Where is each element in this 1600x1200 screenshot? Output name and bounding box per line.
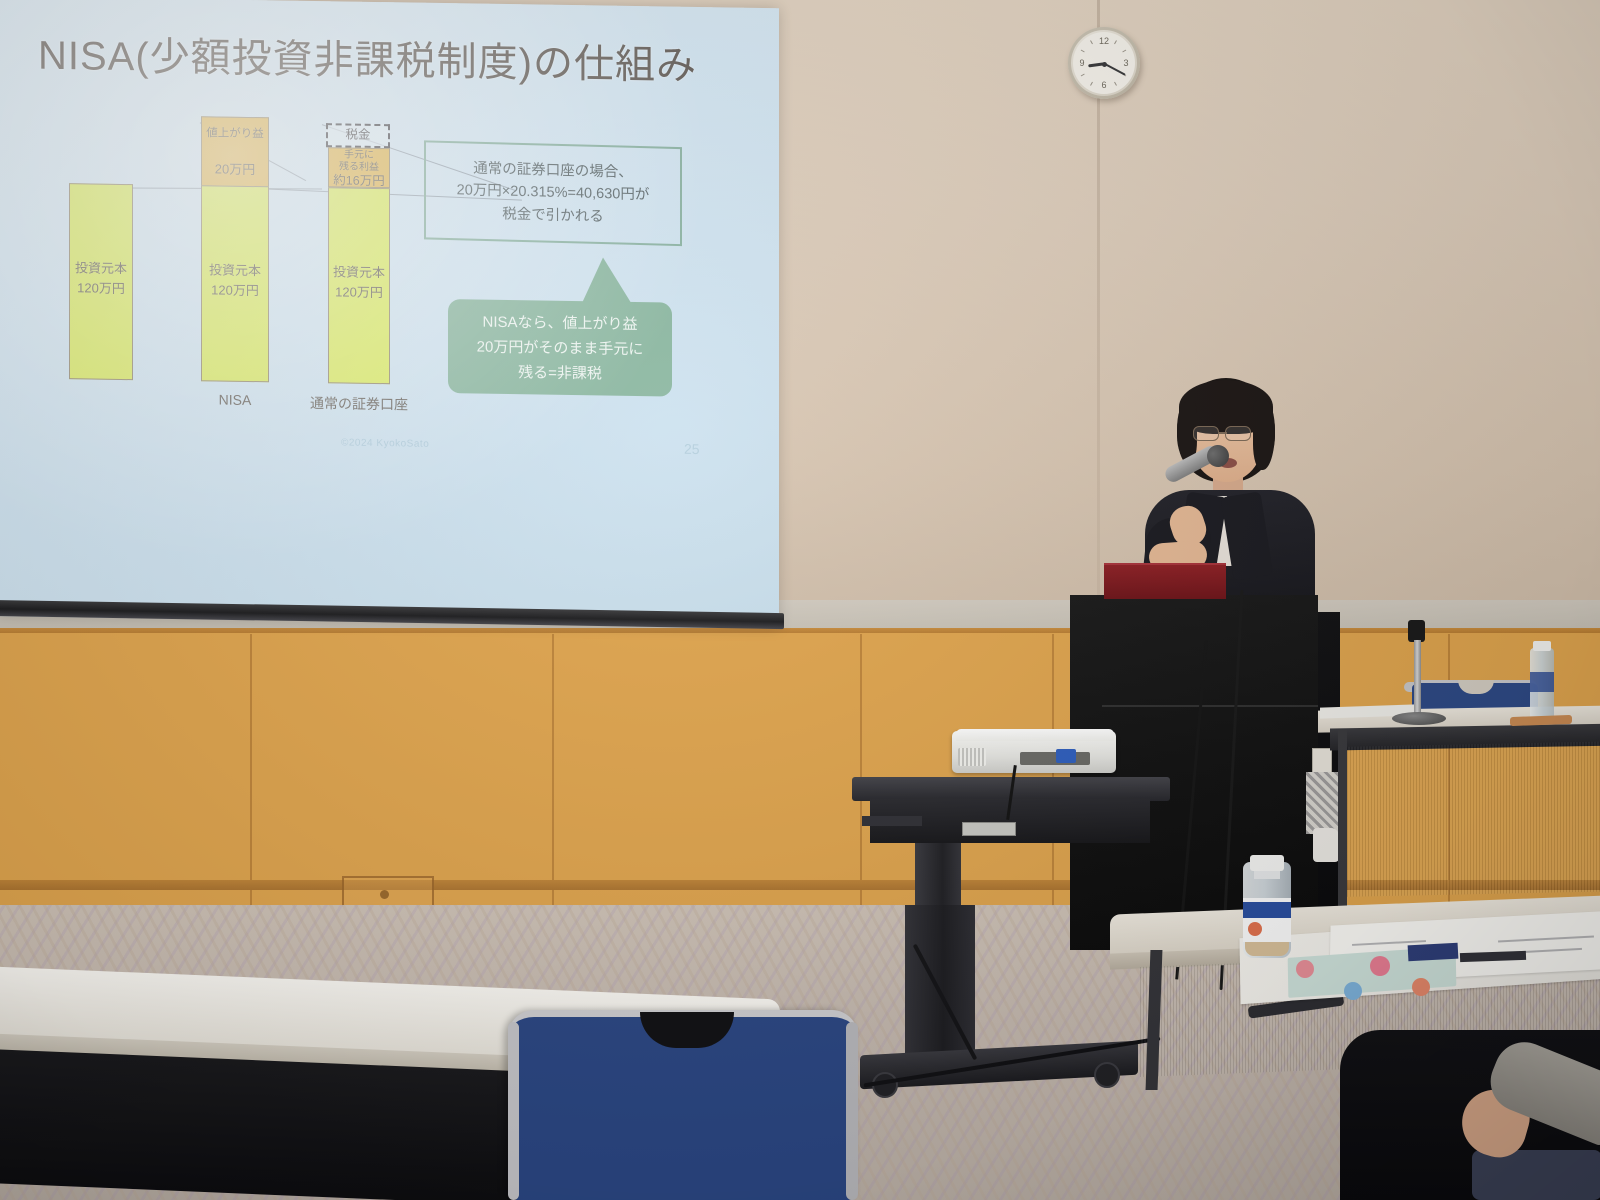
bar-1-principal-amount: 120万円 (70, 280, 132, 297)
projector-cart-shelf (862, 816, 922, 826)
bar-3-tax-name: 税金 (328, 127, 388, 144)
bar-3-label: 通常の証券口座 (296, 393, 422, 415)
cart-caster-right (1094, 1062, 1120, 1088)
flyer-dot-red (1296, 960, 1314, 978)
clock-numeral-6: 6 (1098, 80, 1110, 90)
water-bottle-side-cap (1533, 641, 1551, 651)
bar-1-principal-name: 投資元本 (70, 260, 132, 277)
info-box-taxed-account: 通常の証券口座の場合、 20万円×20.315%=40,630円が 税金で引かれ… (424, 140, 682, 246)
info-box-text: 通常の証券口座の場合、 20万円×20.315%=40,630円が 税金で引かれ… (457, 157, 650, 229)
bar-3-principal: 投資元本 120万円 (328, 187, 390, 384)
microphone-stand-clip (1408, 620, 1425, 642)
projector-cart-label-plate (962, 822, 1016, 836)
bar-3-principal-name: 投資元本 (329, 264, 389, 281)
presenter-eyeglass-right (1225, 426, 1251, 441)
bar-3-tax: 税金 (326, 123, 390, 148)
bar-2-gain: 値上がり益 20万円 (201, 116, 269, 187)
water-bottle-front-cap (1250, 855, 1284, 871)
bar-2-gain-name: 値上がり益 (202, 126, 268, 141)
bar-2-principal-name: 投資元本 (202, 262, 268, 279)
clock-center-pin (1102, 62, 1107, 67)
water-bottle-front-brand-band (1243, 902, 1291, 918)
projector-port-panel (1020, 752, 1090, 765)
bar-3-remain: 手元に 残る利益 約16万円 (328, 147, 390, 188)
audience-chair-seat (1472, 1150, 1600, 1200)
bag-under-table (1306, 772, 1340, 834)
water-bottle-front-fruit-graphic (1248, 922, 1262, 936)
flyer-dot-orange (1412, 978, 1430, 996)
bar-2-label: NISA (201, 391, 269, 408)
nisa-bar-chart: 投資元本 120万円 値上がり益 20万円 投資元本 120万円 NISA 税金 (0, 0, 779, 478)
lectern-seam (1102, 705, 1318, 707)
presenter-eyeglass-left (1193, 426, 1219, 441)
clock-face: 12 3 6 9 (1073, 32, 1135, 94)
speech-bubble-tail (581, 257, 633, 306)
wall-clock: 12 3 6 9 (1068, 27, 1140, 99)
clock-numeral-3: 3 (1120, 58, 1132, 68)
blue-chair-frame-right (846, 1022, 858, 1200)
projector-vent (958, 748, 986, 766)
speech-bubble-nisa: NISAなら、値上がり益 20万円がそのまま手元に 残る=非課税 (448, 299, 672, 397)
handout-blue-block (1408, 943, 1459, 962)
speech-bubble-text: NISAなら、値上がり益 20万円がそのまま手元に 残る=非課税 (448, 310, 672, 388)
bar-1-principal: 投資元本 120万円 (69, 183, 133, 380)
slide-page-number: 25 (684, 441, 700, 457)
bar-2-gain-amount: 20万円 (202, 161, 268, 178)
lectern-top-panel (1104, 563, 1226, 599)
clock-numeral-9: 9 (1076, 58, 1088, 68)
flyer-dot-pink (1370, 956, 1390, 976)
projector-top-cover (956, 729, 1114, 741)
slide-copyright: ©2024 KyokoSato (341, 437, 429, 449)
seminar-room-photo: 12 3 6 9 NISA(少額投資非課税制度)の仕組み (0, 0, 1600, 1200)
clock-numeral-12: 12 (1098, 36, 1110, 46)
slide-content: NISA(少額投資非課税制度)の仕組み 投資元本 120万円 値上がり益 20万… (0, 0, 779, 608)
wall-outlet (1312, 748, 1332, 774)
bar-3-principal-amount: 120万円 (329, 284, 389, 301)
side-table-leg (1338, 730, 1347, 910)
presenter-eyeglass-bridge (1219, 432, 1227, 434)
microphone-stand-base (1392, 712, 1446, 725)
presenter-hair-right (1253, 400, 1275, 470)
shoe-under-table (1313, 828, 1339, 862)
microphone-stand-pole (1414, 640, 1421, 718)
bar-2-principal-amount: 120万円 (202, 282, 268, 299)
blue-chair-frame-left (508, 1022, 519, 1200)
flyer-dot-blue (1344, 982, 1362, 1000)
projector-vga-connector (1056, 749, 1076, 763)
projector-cart-post-lower (905, 905, 975, 1055)
bar-2-principal: 投資元本 120万円 (201, 185, 269, 382)
projection-screen: NISA(少額投資非課税制度)の仕組み 投資元本 120万円 値上がり益 20万… (0, 0, 779, 628)
side-table-modesty-panel (1344, 741, 1600, 897)
water-bottle-side-label (1530, 672, 1554, 692)
wall-panel-knob (380, 890, 389, 899)
